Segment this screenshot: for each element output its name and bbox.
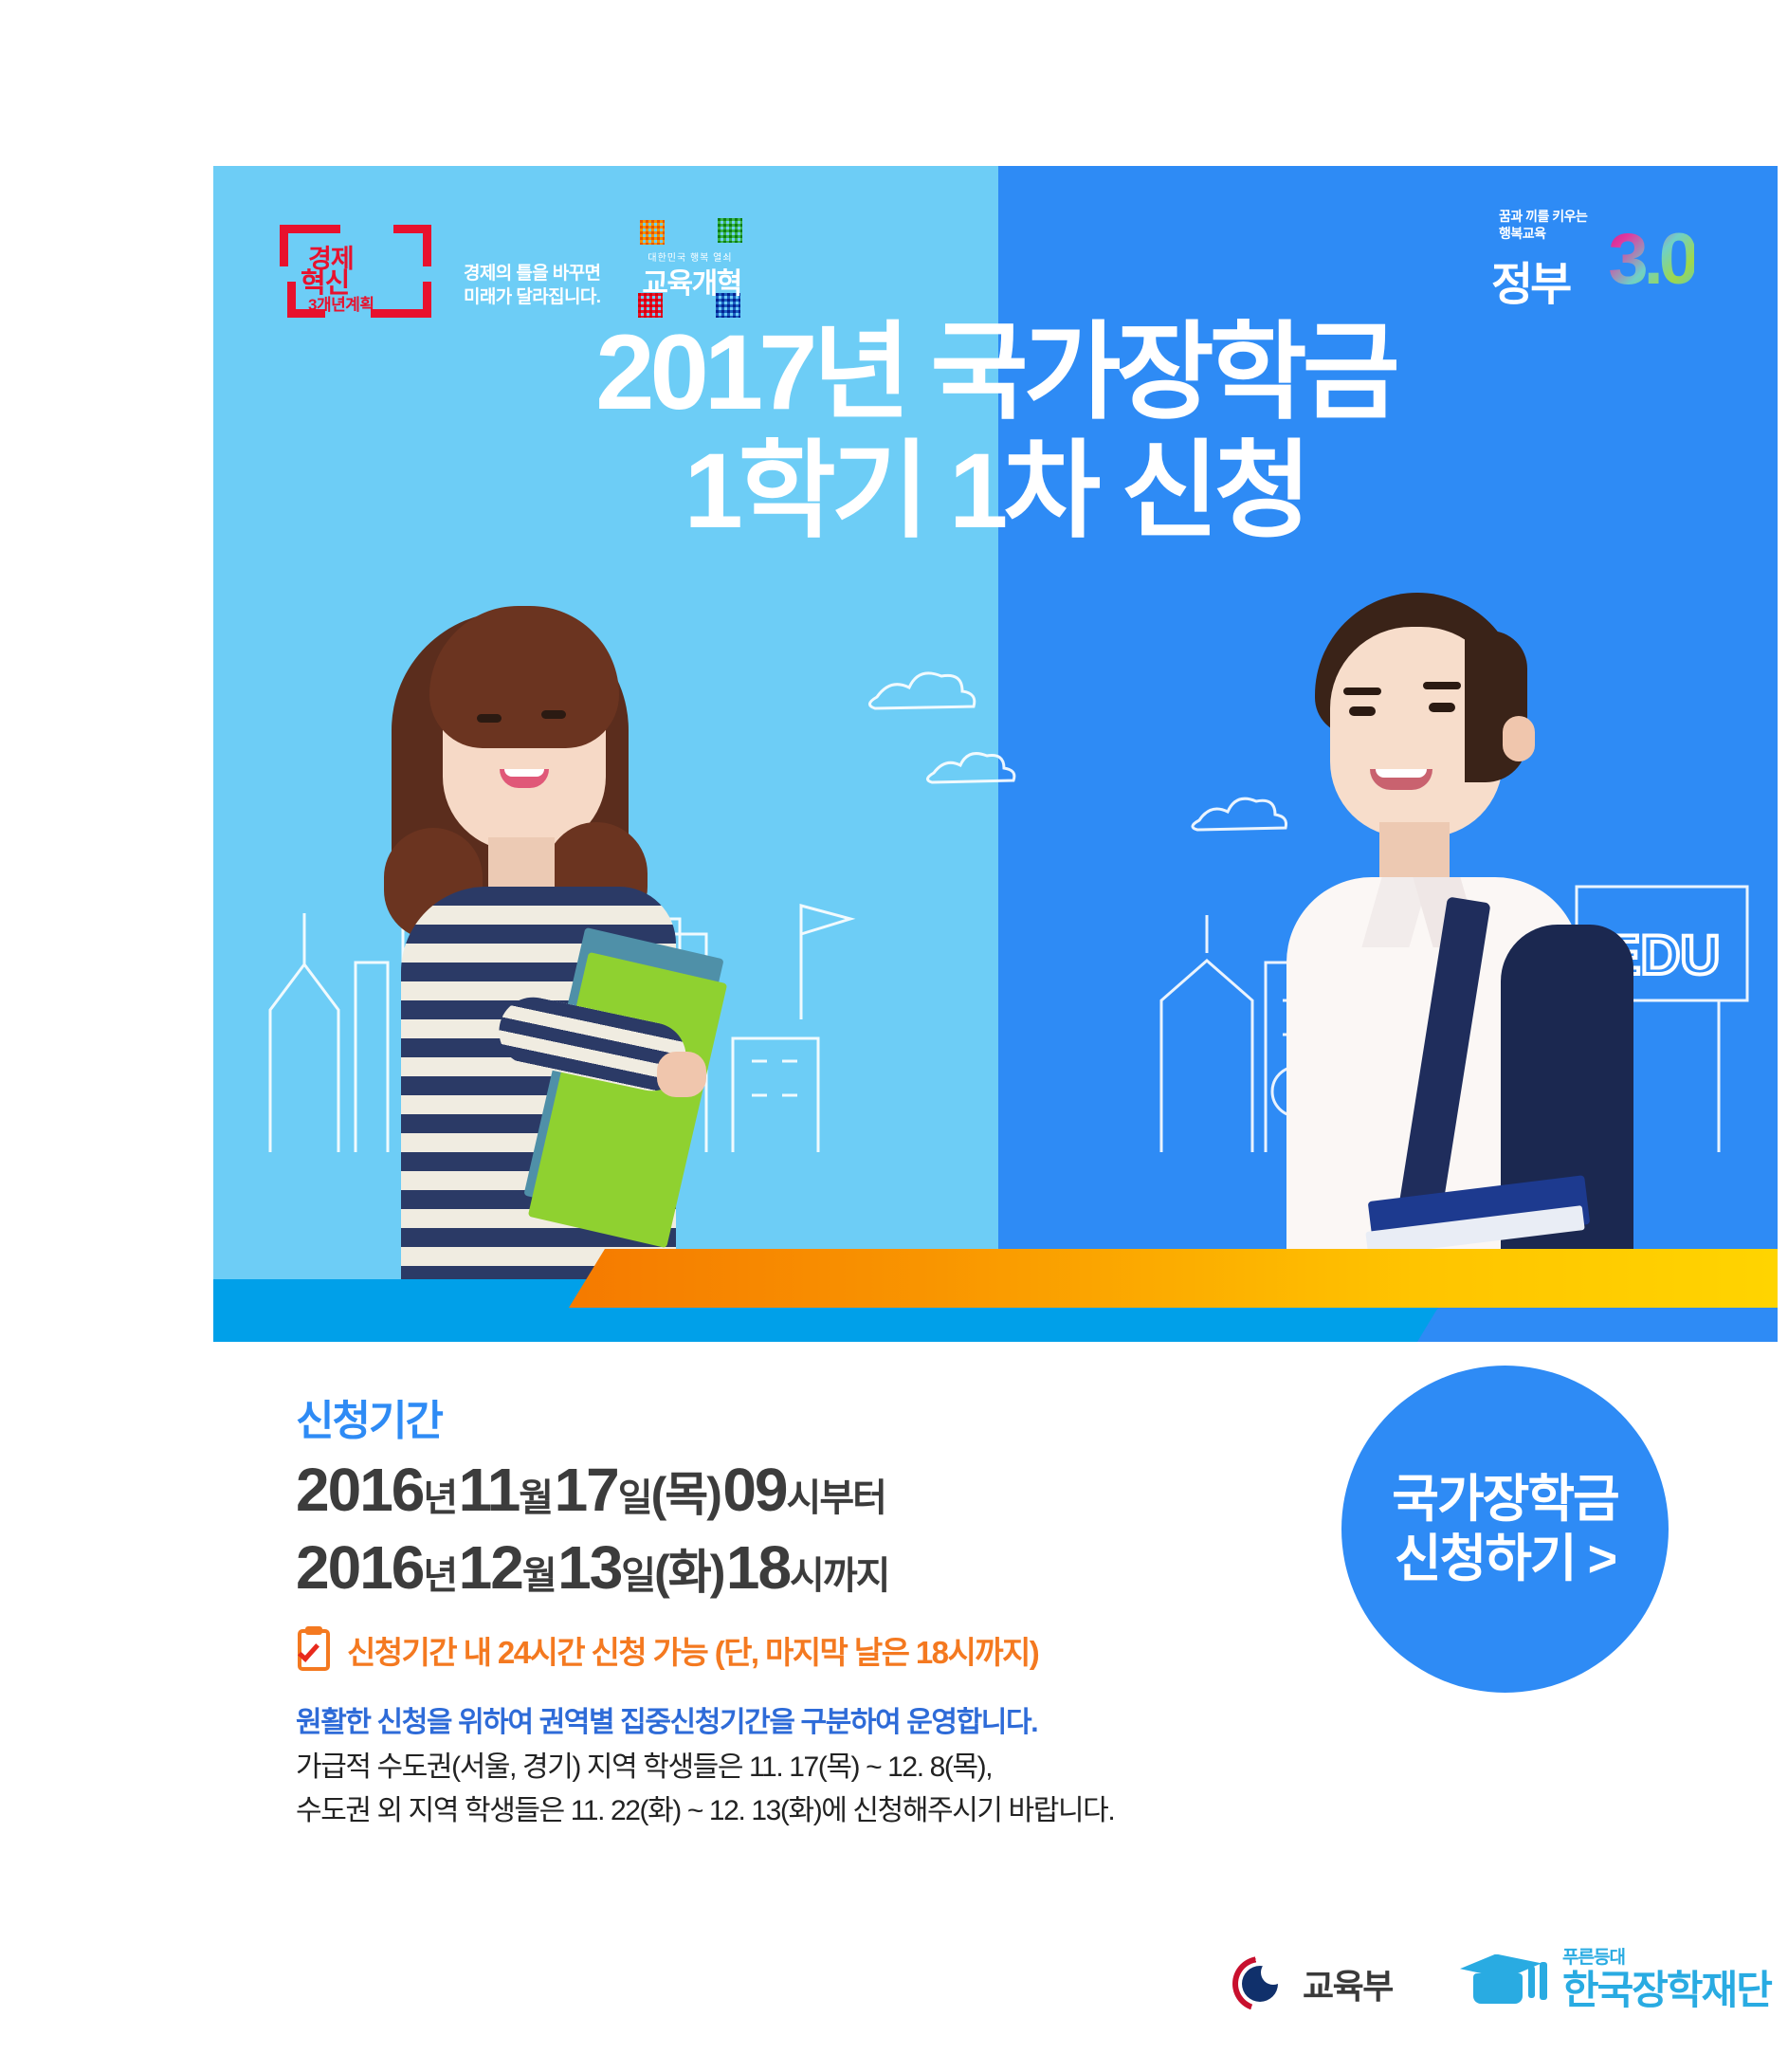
partner-logos: 경제 혁신 3개년계획 경제의 틀을 바꾸면 미래가 달라집니다. 대한민국 행…	[280, 218, 746, 318]
foundation-subtitle: 푸른등대	[1562, 1949, 1771, 1967]
economy-tagline-line2: 미래가 달라집니다.	[464, 285, 600, 310]
application-period-end: 2016년 12월 13일(화) 18시까지	[296, 1532, 1301, 1603]
end-day-unit: 일	[621, 1555, 654, 1597]
male-student-photo	[1228, 593, 1635, 1285]
dot-grid-orange-icon	[640, 220, 665, 245]
poster-title-line1: 2017년 국가장학금	[213, 313, 1778, 431]
economy-logo-line3: 3개년계획	[308, 291, 374, 315]
hand	[657, 1052, 706, 1097]
start-weekday: (목)	[651, 1468, 721, 1521]
eyebrow-right	[1423, 682, 1461, 689]
cap-base	[1473, 1973, 1523, 2004]
apply-scholarship-button[interactable]: 국가장학금 신청하기 >	[1341, 1366, 1669, 1693]
clipboard-clip	[305, 1626, 322, 1635]
end-day: 13	[557, 1533, 621, 1602]
end-hour: 18	[726, 1533, 790, 1602]
eyebrow-left	[1343, 688, 1381, 695]
economy-tagline: 경제의 틀을 바꾸면 미래가 달라집니다.	[464, 262, 600, 318]
end-month: 12	[459, 1533, 522, 1602]
foundation-name: 한국장학재단	[1562, 1971, 1771, 2010]
eye-left	[477, 714, 502, 723]
government-logo-version: 3.0	[1608, 218, 1694, 301]
start-month-unit: 월	[519, 1477, 552, 1519]
application-period-label: 신청기간	[296, 1386, 1301, 1447]
scholarship-poster: EDU 경제 혁신 3개년계획 경제의 틀을 바꾸면 미래가 달라집니다.	[0, 0, 1788, 2072]
cta-label-line1: 국가장학금	[1392, 1470, 1617, 1529]
start-year: 2016	[296, 1456, 423, 1524]
clipboard-check-icon	[296, 1629, 332, 1671]
application-period-start: 2016년 11월 17일(목) 09시부터	[296, 1455, 1301, 1525]
government-30-logo: 꿈과 끼를 키우는 행복교육 정부 3.0	[1476, 209, 1694, 313]
eye-right	[1429, 703, 1455, 712]
start-day: 17	[555, 1456, 618, 1524]
bracket-top-right	[393, 225, 431, 266]
economic-innovation-logo: 경제 혁신 3개년계획	[280, 225, 431, 318]
hero-banner: EDU 경제 혁신 3개년계획 경제의 틀을 바꾸면 미래가 달라집니다.	[213, 166, 1778, 1342]
tassel-1	[1528, 1966, 1535, 1998]
eye-right	[541, 710, 566, 719]
economy-tagline-line1: 경제의 틀을 바꾸면	[464, 262, 600, 286]
start-hour: 09	[722, 1456, 786, 1524]
hero-orange-gradient-band	[569, 1249, 1778, 1308]
foundation-text: 푸른등대 한국장학재단	[1562, 1949, 1771, 2010]
taegeuk-emblem-icon	[1232, 1956, 1287, 2011]
check-note-row: 신청기간 내 24시간 신청 가능 (단, 마지막 날은 18시까지)	[296, 1627, 1301, 1673]
start-day-unit: 일	[618, 1477, 651, 1519]
eye-left	[1349, 706, 1376, 716]
start-year-unit: 년	[423, 1477, 456, 1519]
poster-title-line2: 1학기 1차 신청	[213, 431, 1778, 550]
government-subtitle-line2: 행복교육	[1499, 226, 1587, 243]
start-hour-unit: 시부터	[787, 1477, 885, 1519]
korea-student-aid-foundation-logo: 푸른등대 한국장학재단	[1460, 1949, 1771, 2010]
graduation-cap-icon	[1460, 1951, 1547, 2009]
female-student-photo	[356, 602, 754, 1285]
education-logo-title: 교육개혁	[642, 260, 740, 302]
poster-title: 2017년 국가장학금 1학기 1차 신청	[213, 313, 1778, 551]
government-subtitle-line1: 꿈과 끼를 키우는	[1499, 209, 1587, 226]
application-info: 신청기간 2016년 11월 17일(목) 09시부터 2016년 12월 13…	[296, 1386, 1301, 1834]
ministry-of-education-logo: 교육부	[1232, 1956, 1393, 2011]
ear	[1503, 716, 1535, 761]
government-logo-title: 정부	[1491, 247, 1569, 313]
note-line-2: 수도권 외 지역 학생들은 11. 22(화) ~ 12. 13(화)에 신청해…	[296, 1789, 1301, 1834]
note-line-0: 원활한 신청을 위하여 권역별 집중신청기간을 구분하여 운영합니다.	[296, 1701, 1301, 1746]
end-year-unit: 년	[423, 1555, 456, 1597]
regional-notes: 원활한 신청을 위하여 권역별 집중신청기간을 구분하여 운영합니다. 가급적 …	[296, 1701, 1301, 1834]
government-logo-subtitle: 꿈과 끼를 키우는 행복교육	[1499, 209, 1587, 242]
tassel-2	[1540, 1962, 1547, 2000]
end-year: 2016	[296, 1533, 423, 1602]
dot-grid-green-icon	[718, 218, 742, 243]
note-line-1: 가급적 수도권(서울, 경기) 지역 학생들은 11. 17(목) ~ 12. …	[296, 1746, 1301, 1790]
end-hour-unit: 시까지	[790, 1555, 888, 1597]
cta-label-line2: 신청하기 >	[1395, 1530, 1615, 1588]
check-note-text: 신청기간 내 24시간 신청 가능 (단, 마지막 날은 18시까지)	[347, 1627, 1038, 1673]
start-month: 11	[459, 1456, 520, 1524]
footer-logos: 교육부 푸른등대 한국장학재단	[0, 1949, 1788, 2053]
education-reform-logo: 대한민국 행복 열쇠 교육개혁	[632, 218, 746, 318]
ministry-label: 교육부	[1303, 1959, 1393, 2008]
taegeuk-cutout	[1261, 1960, 1286, 1985]
end-month-unit: 월	[522, 1555, 556, 1597]
end-weekday: (화)	[654, 1546, 723, 1599]
